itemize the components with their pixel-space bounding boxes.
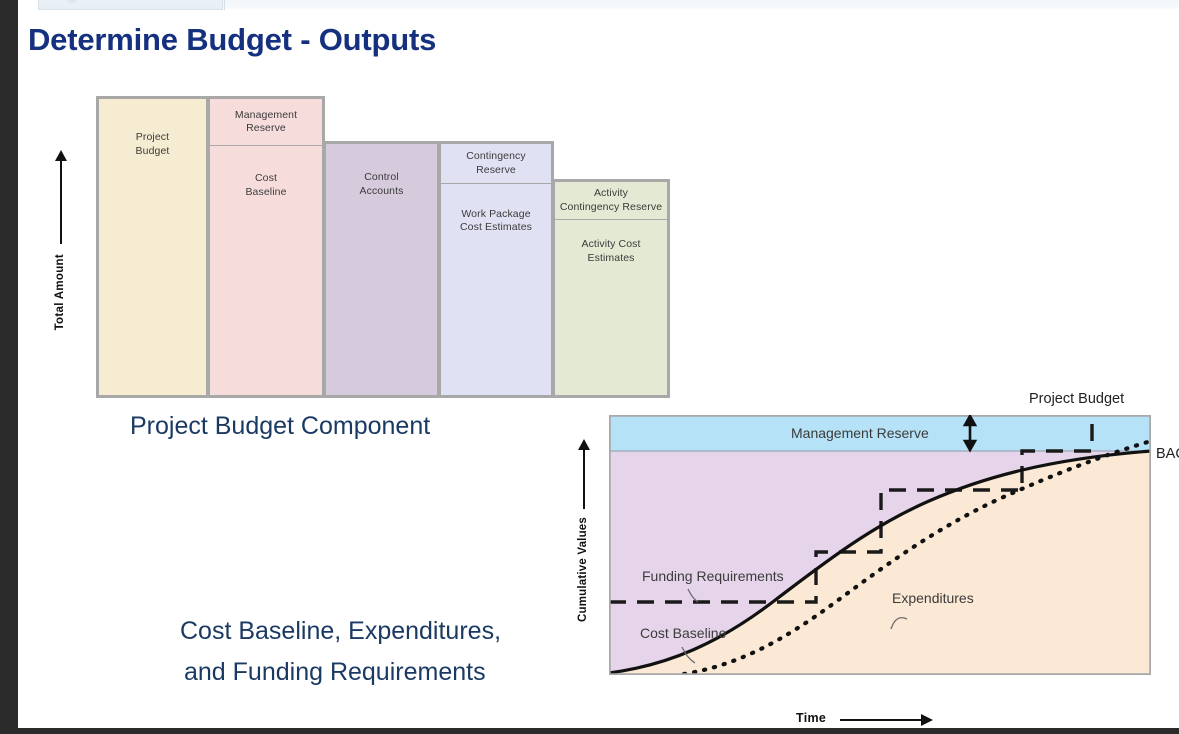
budget-cell-cost-baseline: Cost Baseline: [210, 146, 322, 395]
caption-project-budget-component: Project Budget Component: [130, 412, 430, 441]
budget-column-control-accounts: Control Accounts: [323, 141, 440, 398]
cumulative-values-axis-arrow-icon: [583, 449, 585, 509]
total-amount-axis-label: Total Amount: [54, 254, 66, 330]
cell-line-1: Control: [364, 171, 399, 183]
budget-cell-activity-cost-estimates: Activity Cost Estimates: [555, 220, 667, 395]
cell-line-1: Contingency: [466, 150, 525, 162]
budget-column-cost-baseline: Management Reserve Cost Baseline: [207, 96, 325, 398]
cell-line-2: Contingency Reserve: [560, 201, 662, 213]
budget-cell-project-budget: Project Budget: [99, 99, 206, 395]
cumulative-values-chart: Cumulative Values: [558, 386, 1179, 728]
cell-line-2: Reserve: [246, 122, 286, 134]
budget-cell-control-accounts: Control Accounts: [326, 144, 437, 395]
label-bac: BAC: [1156, 446, 1179, 462]
cell-line-1: Work Package: [461, 208, 530, 220]
slide-canvas: www.bettersolutions Determine Budget - O…: [18, 0, 1179, 728]
time-axis-label: Time: [796, 711, 826, 725]
budget-cell-management-reserve: Management Reserve: [210, 99, 322, 146]
chrome-divider: [224, 0, 225, 10]
cell-line-2: Budget: [136, 145, 170, 157]
annotation-expenditures: Expenditures: [892, 590, 974, 606]
annotation-funding-requirements: Funding Requirements: [642, 568, 784, 584]
favicon-icon: [65, 0, 78, 3]
budget-cell-work-package-cost-estimates: Work Package Cost Estimates: [441, 184, 551, 395]
budget-column-work-package: Contingency Reserve Work Package Cost Es…: [438, 141, 554, 398]
cell-line-2: Cost Estimates: [460, 221, 532, 233]
page-title: Determine Budget - Outputs: [28, 22, 436, 58]
budget-cell-contingency-reserve: Contingency Reserve: [441, 144, 551, 184]
label-project-budget: Project Budget: [1029, 391, 1124, 407]
time-axis-arrow-icon: [840, 719, 922, 721]
cell-line-1: Activity: [594, 187, 628, 199]
cell-line-1: Project: [136, 131, 169, 143]
cell-line-2: Accounts: [360, 185, 404, 197]
caption-cost-baseline-line2: and Funding Requirements: [184, 658, 486, 687]
budget-column-project-budget: Project Budget: [96, 96, 209, 398]
caption-cost-baseline-line1: Cost Baseline, Expenditures,: [180, 617, 501, 646]
cell-line-2: Estimates: [588, 252, 635, 264]
budget-component-diagram: Total Amount Project Budget Management R…: [40, 96, 680, 401]
budget-cell-activity-contingency-reserve: Activity Contingency Reserve: [555, 182, 667, 220]
budget-column-activity: Activity Contingency Reserve Activity Co…: [552, 179, 670, 398]
chrome-background: [223, 0, 1179, 9]
cell-line-2: Baseline: [245, 186, 286, 198]
window-frame: www.bettersolutions Determine Budget - O…: [0, 0, 1179, 734]
annotation-management-reserve: Management Reserve: [791, 425, 929, 441]
total-amount-axis-arrow-icon: [60, 160, 62, 244]
cell-line-2: Reserve: [476, 164, 516, 176]
cell-line-1: Cost: [255, 172, 277, 184]
cumulative-values-axis-label: Cumulative Values: [577, 517, 589, 622]
annotation-cost-baseline: Cost Baseline: [640, 625, 726, 641]
cell-line-1: Activity Cost: [581, 238, 640, 250]
browser-tab[interactable]: www.bettersolutions: [38, 0, 223, 10]
browser-chrome-strip: www.bettersolutions: [18, 0, 1179, 11]
cell-line-1: Management: [235, 109, 297, 121]
